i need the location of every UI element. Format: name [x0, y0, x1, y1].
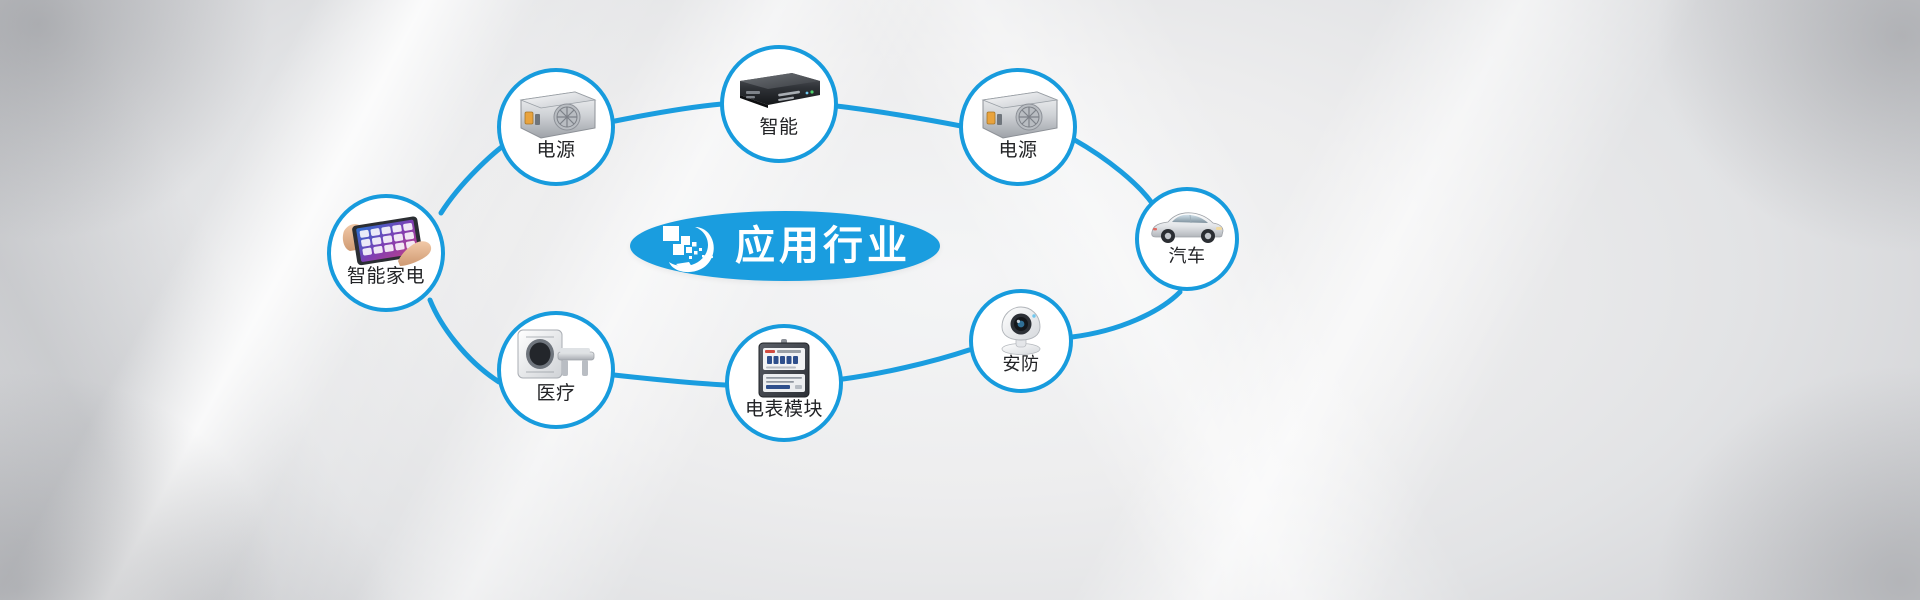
- ip-camera-icon: [973, 293, 1069, 355]
- node-security[interactable]: 安防: [969, 289, 1073, 393]
- node-automotive[interactable]: 汽车: [1135, 187, 1239, 291]
- rack-server-icon: [724, 49, 834, 118]
- orbit-pixel-swoosh-logo: [659, 218, 721, 274]
- node-meter-module[interactable]: 电表模块: [725, 324, 843, 442]
- power-supply-icon: [963, 72, 1073, 141]
- tablet-in-hand-icon: [331, 198, 441, 267]
- electric-meter-icon: [729, 328, 839, 400]
- center-badge[interactable]: 应用行业: [630, 211, 940, 281]
- connector-ring: [0, 0, 1920, 600]
- node-medical[interactable]: 医疗: [497, 311, 615, 429]
- power-supply-icon: [501, 72, 611, 141]
- node-power-right[interactable]: 电源: [959, 68, 1077, 186]
- banner-stage: 电源: [0, 0, 1920, 600]
- mri-scanner-icon: [501, 315, 611, 384]
- node-power-left[interactable]: 电源: [497, 68, 615, 186]
- sports-car-icon: [1139, 191, 1235, 247]
- node-smart[interactable]: 智能: [720, 45, 838, 163]
- node-appliance[interactable]: 智能家电: [327, 194, 445, 312]
- badge-title: 应用行业: [735, 226, 911, 266]
